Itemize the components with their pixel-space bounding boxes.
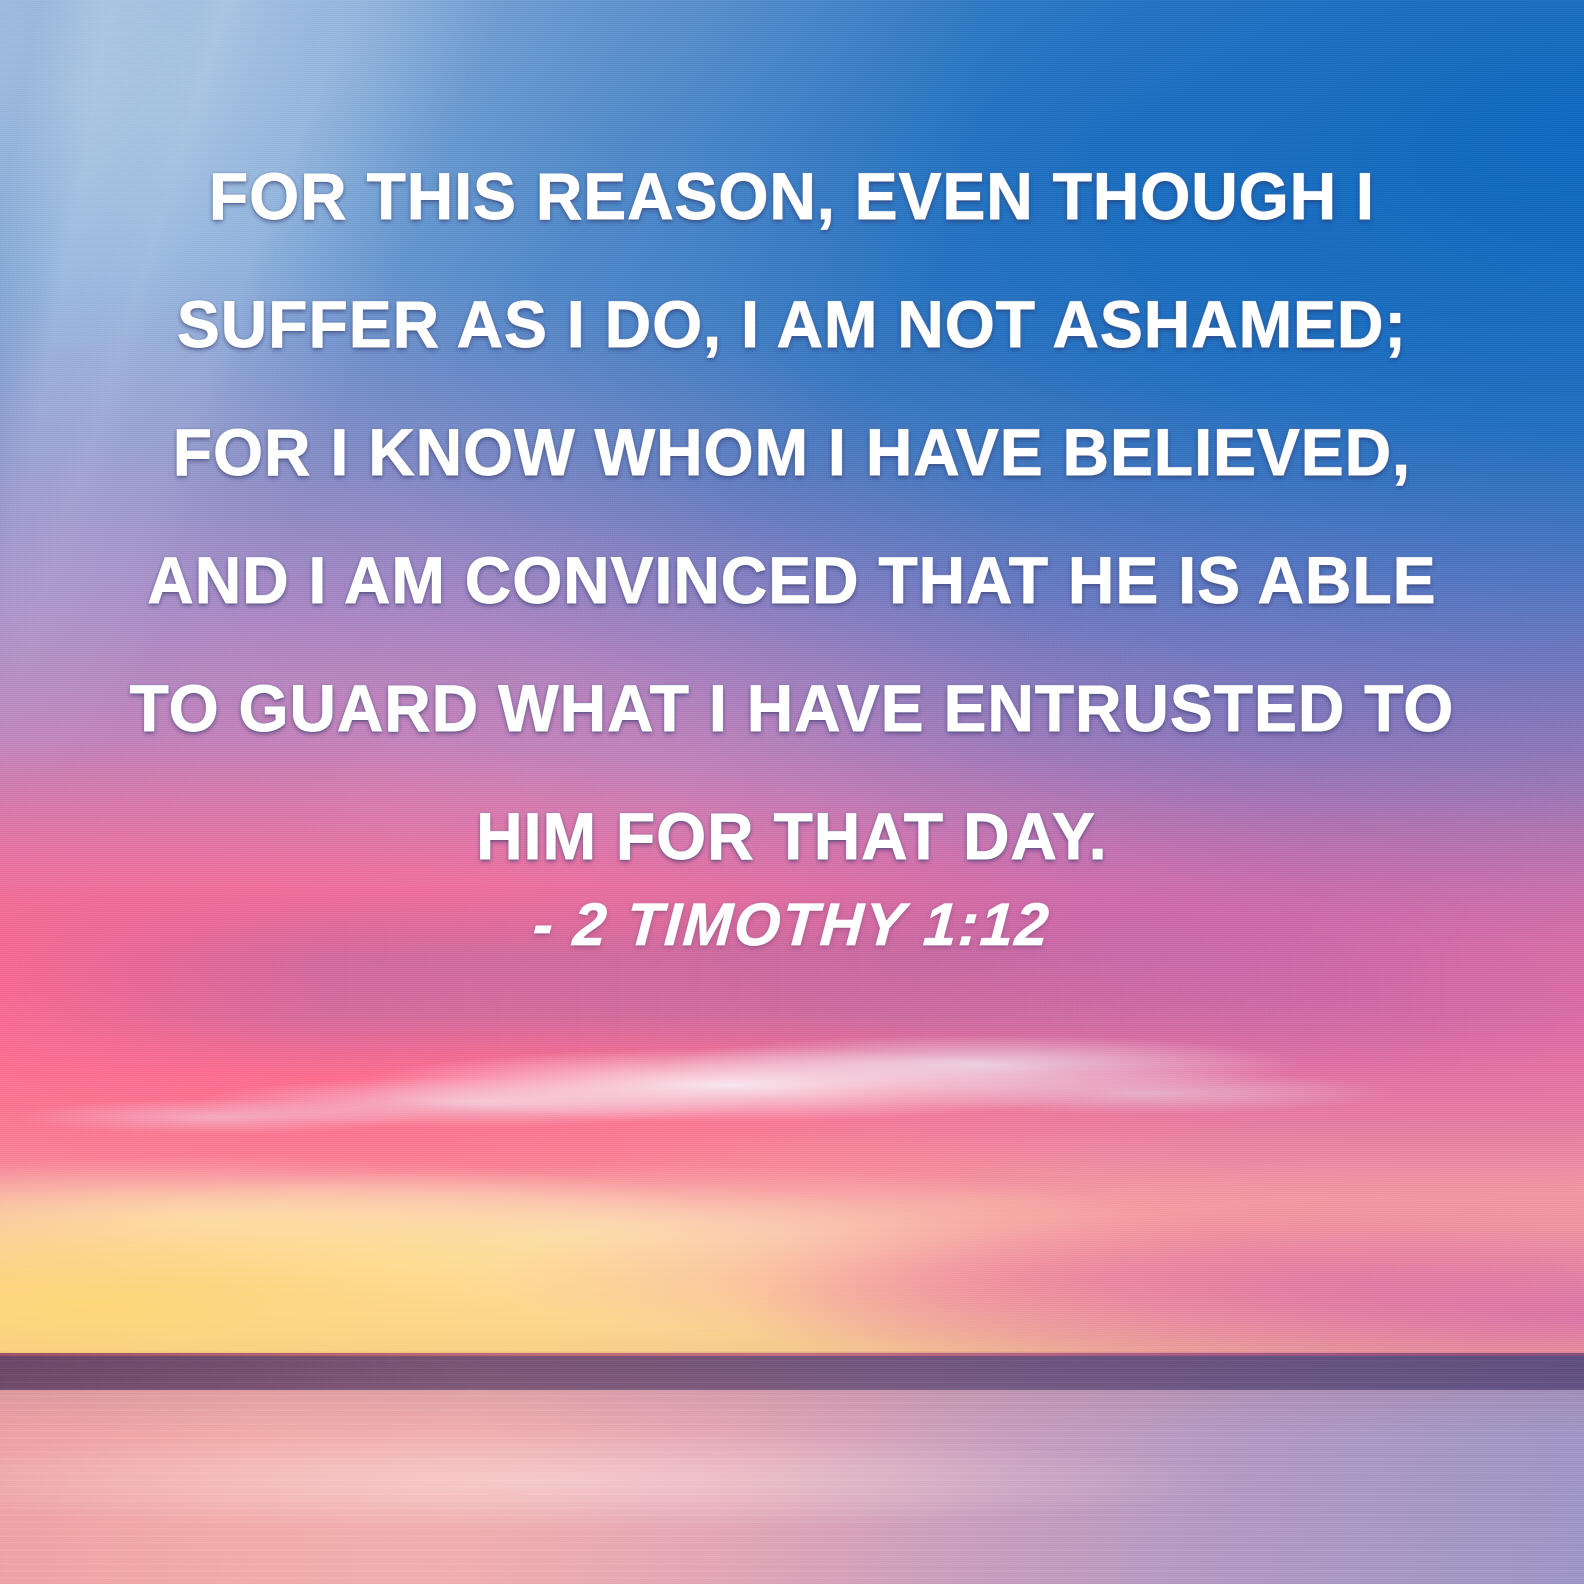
verse-text-block: FOR THIS REASON, EVEN THOUGH I SUFFER AS… — [0, 132, 1584, 900]
quote-image-canvas: FOR THIS REASON, EVEN THOUGH I SUFFER AS… — [0, 0, 1584, 1584]
verse-line: AND I AM CONVINCED THAT HE IS ABLE — [57, 516, 1528, 644]
verse-line: SUFFER AS I DO, I AM NOT ASHAMED; — [57, 260, 1528, 388]
verse-line: FOR I KNOW WHOM I HAVE BELIEVED, — [57, 388, 1528, 516]
verse-line: TO GUARD WHAT I HAVE ENTRUSTED TO — [57, 644, 1528, 772]
verse-line: HIM FOR THAT DAY. — [57, 772, 1528, 900]
verse-attribution: - 2 TIMOTHY 1:12 — [0, 890, 1584, 959]
verse-line: FOR THIS REASON, EVEN THOUGH I — [57, 132, 1528, 260]
verse-reference-label: - 2 TIMOTHY 1:12 — [531, 890, 1053, 959]
